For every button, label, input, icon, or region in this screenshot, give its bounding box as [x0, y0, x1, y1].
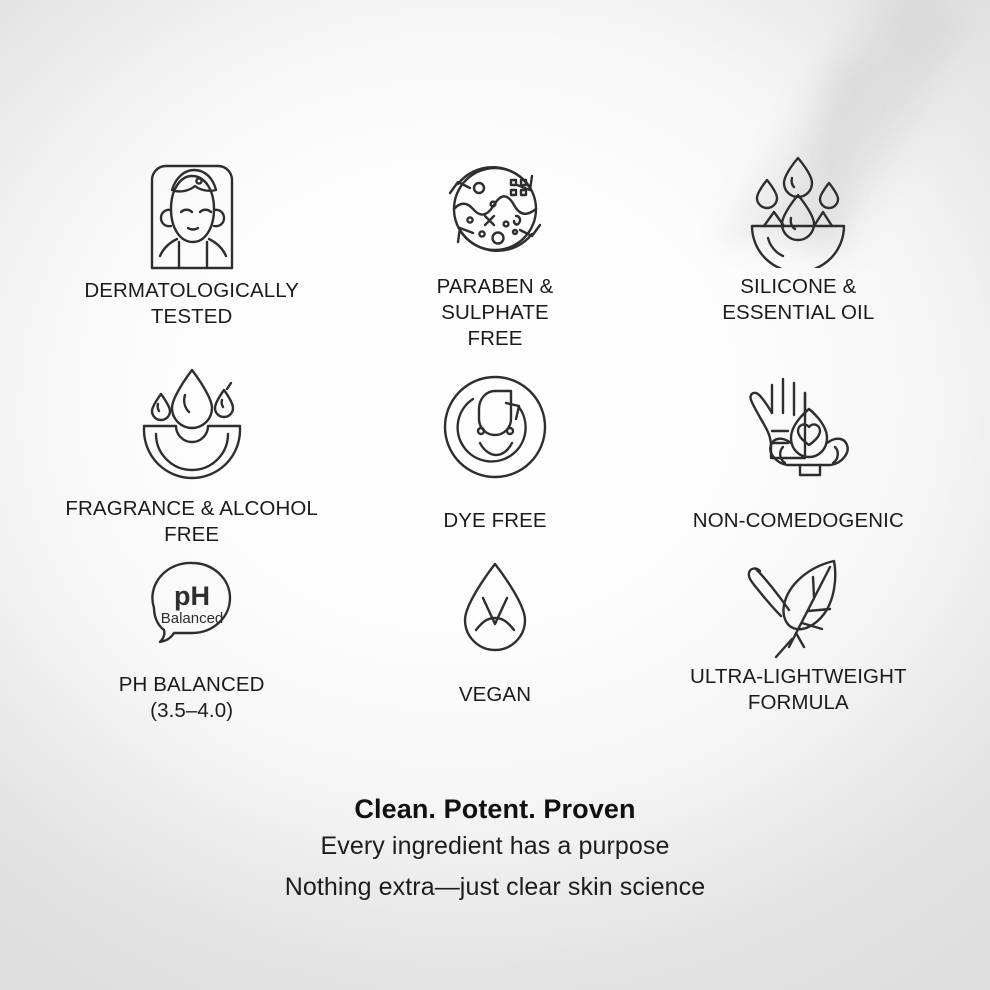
badge-dye-free: DYE FREE — [343, 364, 646, 548]
badge-label: ULTRA-LIGHTWEIGHT FORMULA — [690, 664, 907, 716]
badge-fragrance-alcohol-free: FRAGRANCE & ALCOHOL FREE — [40, 364, 343, 548]
skin-cycle-particles-icon — [436, 150, 554, 268]
footer-line-2: Nothing extra—just clear skin science — [0, 867, 990, 908]
badge-paraben-sulphate-free: PARABEN & SULPHATE FREE — [343, 150, 646, 352]
footer-line-1: Every ingredient has a purpose — [0, 826, 990, 867]
badge-dermatologically-tested: DERMATOLOGICALLY TESTED — [40, 150, 343, 352]
ph-speech-bubble-icon: pH Balanced — [138, 554, 246, 662]
footer-headline: Clean. Potent. Proven — [0, 792, 990, 826]
badge-silicone-essential-oil-free: SILICONE & ESSENTIAL OIL — [647, 150, 950, 352]
badge-label: DERMATOLOGICALLY TESTED — [84, 278, 299, 330]
hand-heart-leaf-icon — [738, 364, 858, 490]
badge-label: PARABEN & SULPHATE FREE — [437, 274, 554, 352]
face-in-frame-icon — [138, 154, 246, 272]
badge-label: NON-COMEDOGENIC — [693, 508, 904, 534]
ph-icon-primary-text: pH — [174, 581, 210, 611]
badge-label: PH BALANCED (3.5–4.0) — [119, 672, 265, 724]
badge-ultra-lightweight-formula: ULTRA-LIGHTWEIGHT FORMULA — [647, 554, 950, 724]
badge-label: VEGAN — [459, 682, 531, 708]
badge-ph-balanced: pH Balanced PH BALANCED (3.5–4.0) — [40, 554, 343, 724]
product-claims-infographic: DERMATOLOGICALLY TESTED — [0, 0, 990, 990]
claims-grid: DERMATOLOGICALLY TESTED — [40, 150, 950, 724]
badge-vegan: VEGAN — [343, 554, 646, 724]
badge-non-comedogenic: NON-COMEDOGENIC — [647, 364, 950, 548]
smiley-droplet-circle-icon — [437, 364, 553, 490]
badge-label: DYE FREE — [443, 508, 546, 534]
badge-label: SILICONE & ESSENTIAL OIL — [722, 274, 874, 326]
ph-icon-secondary-text: Balanced — [160, 610, 223, 627]
vegan-droplet-icon — [452, 554, 538, 662]
droplet-over-bowl-icon — [130, 364, 254, 490]
badge-label: FRAGRANCE & ALCOHOL FREE — [65, 496, 318, 548]
droplets-in-bowl-icon — [738, 150, 858, 268]
two-leaves-icon — [742, 554, 854, 662]
footer-tagline-block: Clean. Potent. Proven Every ingredient h… — [0, 792, 990, 908]
